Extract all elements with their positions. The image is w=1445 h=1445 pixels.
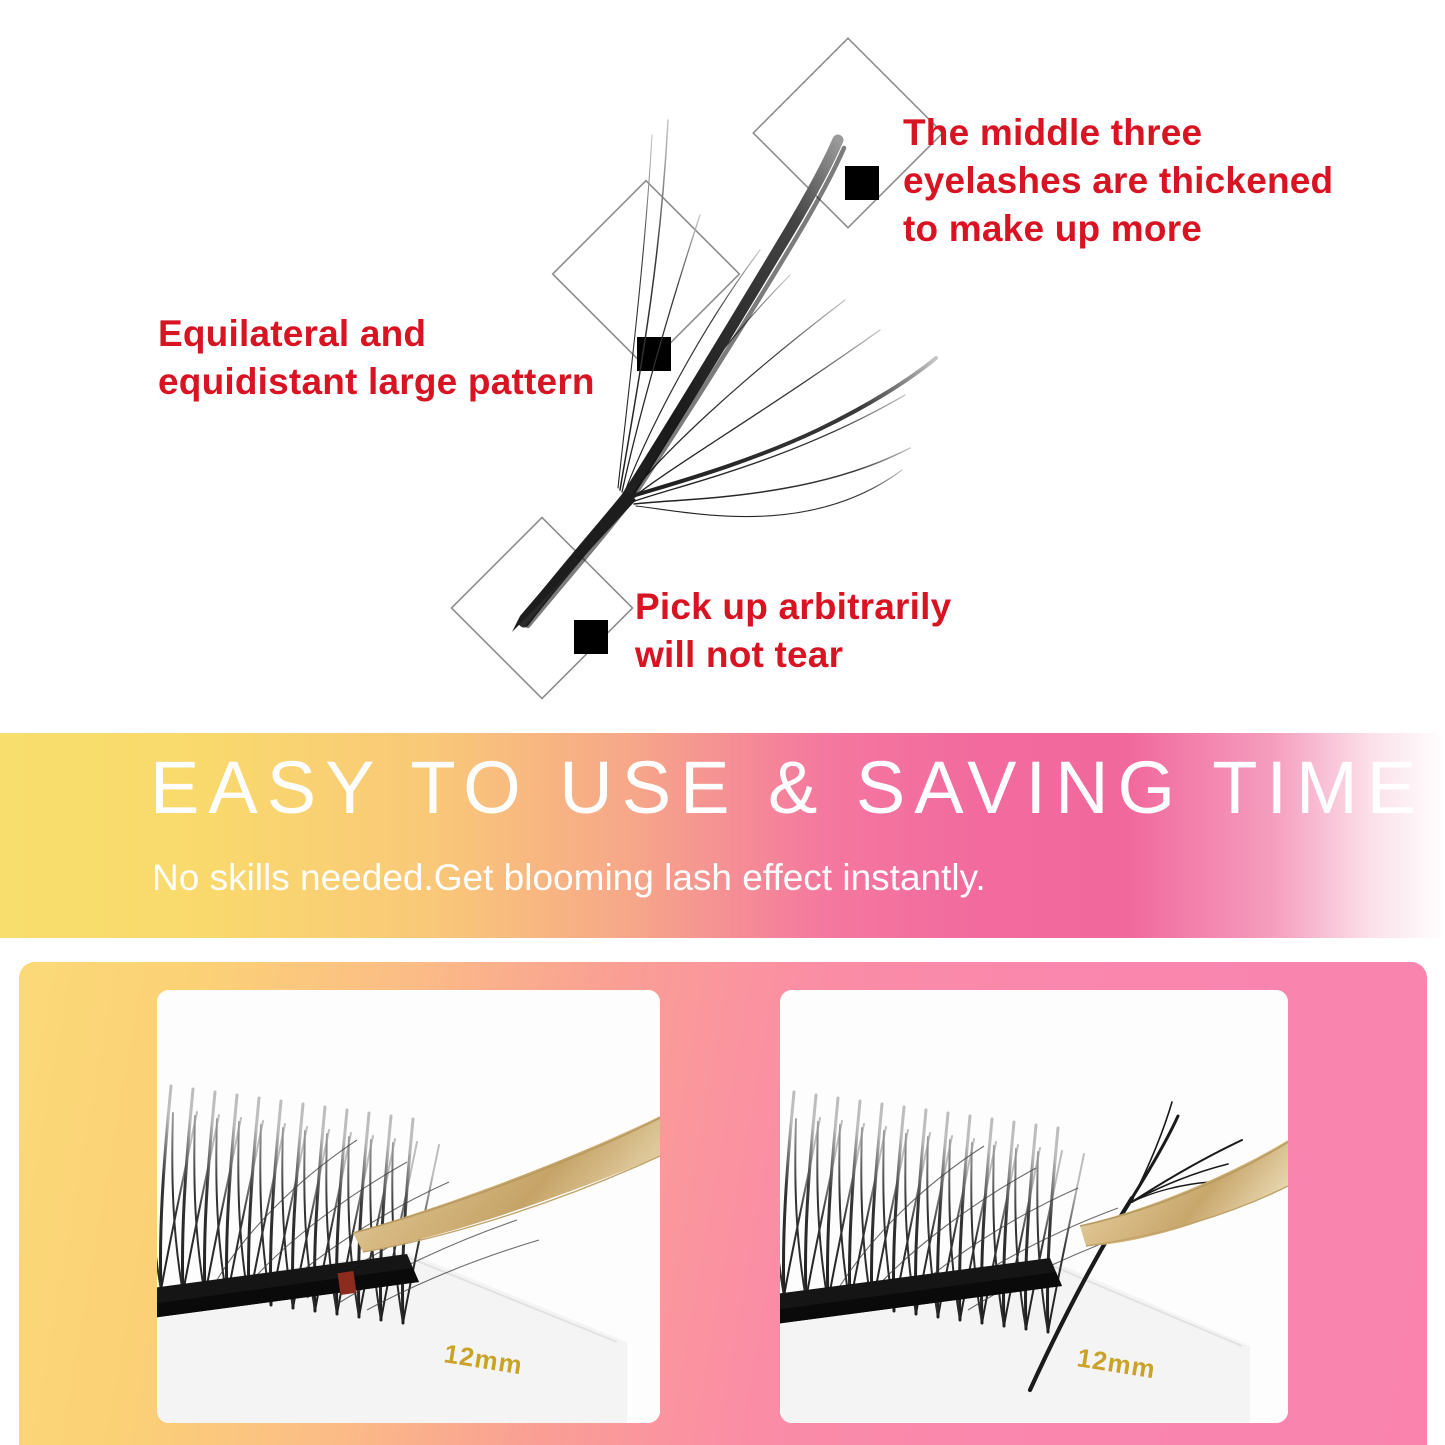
lash-fan-pickup-photo: 12mm 12mm xyxy=(780,990,1288,1423)
callout-pick-up: Pick up arbitrarily will not tear xyxy=(635,583,1035,679)
feature-section: The middle three eyelashes are thickened… xyxy=(0,0,1445,728)
left-photo-canvas: 12mm xyxy=(157,990,660,1423)
promo-banner: EASY TO USE & SAVING TIME No skills need… xyxy=(0,733,1445,938)
square-marker-group xyxy=(574,166,879,654)
callout-middle-three: The middle three eyelashes are thickened… xyxy=(903,109,1343,253)
right-photo-canvas: 12mm xyxy=(780,990,1288,1423)
banner-headline: EASY TO USE & SAVING TIME xyxy=(150,751,1425,825)
product-feature-page: The middle three eyelashes are thickened… xyxy=(0,0,1445,1445)
square-marker-pick-up xyxy=(574,620,608,654)
photo-panel: 12mm 12mm xyxy=(19,962,1427,1445)
banner-subtitle: No skills needed.Get blooming lash effec… xyxy=(152,859,986,896)
lash-base-strip xyxy=(512,492,636,632)
square-marker-middle-three xyxy=(845,166,879,200)
lash-tray-with-tweezers-photo: 12mm 12mm xyxy=(157,990,660,1423)
callout-equilateral: Equilateral and equidistant large patter… xyxy=(158,310,628,406)
